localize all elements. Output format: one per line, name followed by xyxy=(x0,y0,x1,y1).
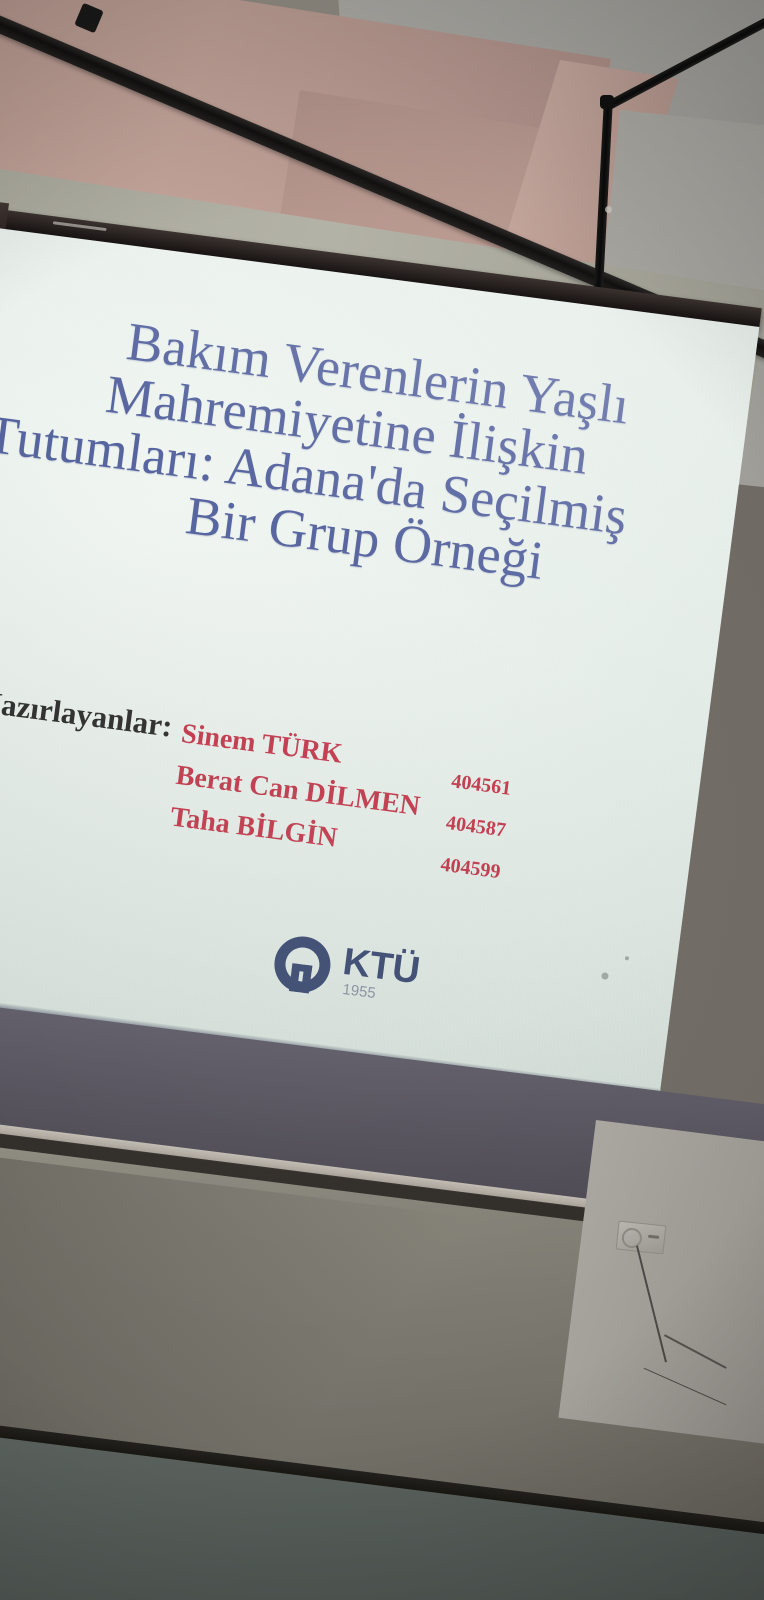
conduit-elbow-joint xyxy=(600,95,614,109)
prepared-by-label: Hazırlayanlar: xyxy=(0,686,174,742)
ktu-logo-icon xyxy=(268,930,337,999)
authors-section: Hazırlayanlar: Sinem TÜRK 404561 Berat C… xyxy=(0,671,678,907)
slide-content: Bakım Verenlerin Yaşlı Mahremiyetine İli… xyxy=(0,224,759,1091)
photo-scene: Bakım Verenlerin Yaşlı Mahremiyetine İli… xyxy=(0,0,764,1600)
author-id: 404599 xyxy=(439,854,502,887)
socket-hole xyxy=(621,1227,643,1249)
projector-screen: Bakım Verenlerin Yaşlı Mahremiyetine İli… xyxy=(0,224,759,1110)
ktu-logo-text: KTÜ 1955 xyxy=(339,943,422,1006)
wall-corner-lit xyxy=(558,1120,764,1446)
conduit-clip xyxy=(605,206,612,213)
author-list: Sinem TÜRK 404561 Berat Can DİLMEN 40458… xyxy=(167,718,514,886)
wall-socket-icon xyxy=(616,1221,667,1255)
socket-switch-slot xyxy=(648,1235,659,1239)
slide-title: Bakım Verenlerin Yaşlı Mahremiyetine İli… xyxy=(0,297,717,608)
ktu-logo: KTÜ 1955 xyxy=(268,930,422,1010)
